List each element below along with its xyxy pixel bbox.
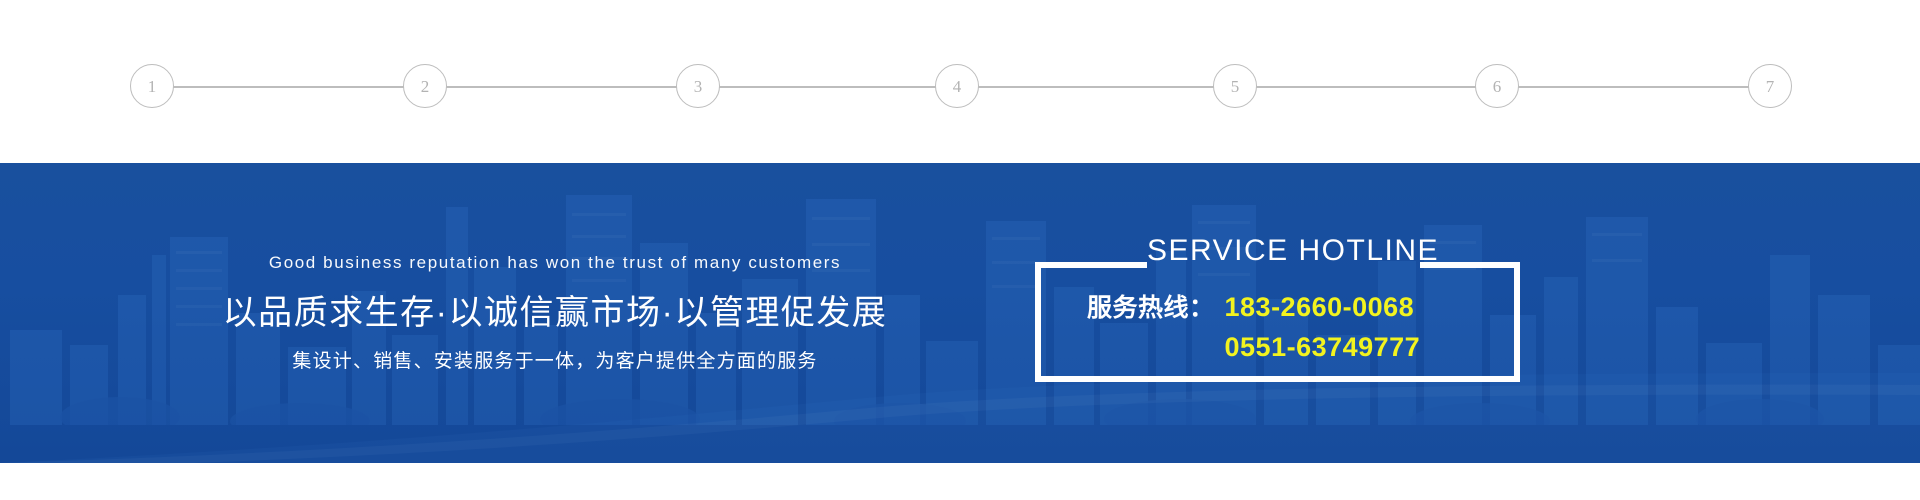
- hotline-number-secondary[interactable]: 0551-63749777: [1225, 332, 1421, 363]
- service-hotline-box: SERVICE HOTLINE 服务热线： 183-2660-0068 服务热线…: [1035, 262, 1520, 382]
- step-indicator: 1 2 3 4 5 6 7: [0, 0, 1920, 163]
- step-label-3: 3: [694, 78, 703, 95]
- step-node-1[interactable]: 1: [130, 64, 174, 108]
- step-label-2: 2: [421, 78, 430, 95]
- promo-banner: Good business reputation has won the tru…: [0, 163, 1920, 463]
- slogan-headline: 以品质求生存·以诚信赢市场·以管理促发展: [223, 285, 888, 334]
- hotline-row-primary: 服务热线： 183-2660-0068: [1035, 288, 1520, 328]
- step-label-5: 5: [1231, 78, 1240, 95]
- slogan-subtitle: 集设计、销售、安装服务于一体，为客户提供全方面的服务: [292, 346, 817, 373]
- hotline-numbers-list: 服务热线： 183-2660-0068 服务热线： 0551-63749777: [1035, 288, 1520, 368]
- step-node-6[interactable]: 6: [1475, 64, 1519, 108]
- slogan-english: Good business reputation has won the tru…: [269, 253, 841, 273]
- step-node-5[interactable]: 5: [1213, 64, 1257, 108]
- hotline-number-primary[interactable]: 183-2660-0068: [1225, 292, 1415, 323]
- step-node-7[interactable]: 7: [1748, 64, 1792, 108]
- hotline-title: SERVICE HOTLINE: [1147, 236, 1420, 266]
- hotline-row-secondary: 服务热线： 0551-63749777: [1035, 328, 1520, 368]
- hotline-label: 服务热线：: [1087, 288, 1215, 324]
- slogan-block: Good business reputation has won the tru…: [0, 163, 1020, 463]
- step-label-4: 4: [953, 78, 962, 95]
- step-node-3[interactable]: 3: [676, 64, 720, 108]
- step-label-6: 6: [1493, 78, 1502, 95]
- hotline-border-top-left: [1035, 262, 1147, 268]
- step-label-7: 7: [1766, 78, 1775, 95]
- step-node-2[interactable]: 2: [403, 64, 447, 108]
- page-root: 1 2 3 4 5 6 7: [0, 0, 1920, 500]
- step-node-4[interactable]: 4: [935, 64, 979, 108]
- hotline-border-bottom: [1035, 376, 1520, 382]
- step-label-1: 1: [148, 78, 157, 95]
